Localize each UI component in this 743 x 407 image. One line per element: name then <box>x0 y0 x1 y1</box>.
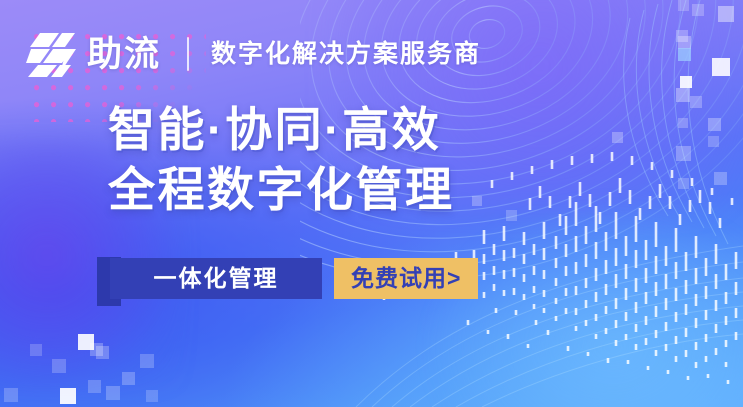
zhuliu-lightning-logo-icon <box>26 29 78 79</box>
headline-line-2: 全程数字化管理 <box>108 160 455 220</box>
integrated-management-button[interactable]: 一体化管理 <box>110 258 322 299</box>
promo-banner: 助流 数字化解决方案服务商 智能·协同·高效 全程数字化管理 一体化管理 免费试… <box>0 0 743 407</box>
headline-block: 智能·协同·高效 全程数字化管理 <box>108 100 455 220</box>
brand-tagline: 数字化解决方案服务商 <box>211 42 481 67</box>
headline-line-1: 智能·协同·高效 <box>108 100 455 160</box>
banner-content: 助流 数字化解决方案服务商 智能·协同·高效 全程数字化管理 一体化管理 免费试… <box>0 0 743 407</box>
brand-divider <box>187 37 189 71</box>
brand-name: 助流 <box>87 37 161 72</box>
cta-row: 一体化管理 免费试用> <box>110 258 478 299</box>
brand-lockup: 助流 数字化解决方案服务商 <box>26 26 481 82</box>
free-trial-button[interactable]: 免费试用> <box>334 258 478 299</box>
